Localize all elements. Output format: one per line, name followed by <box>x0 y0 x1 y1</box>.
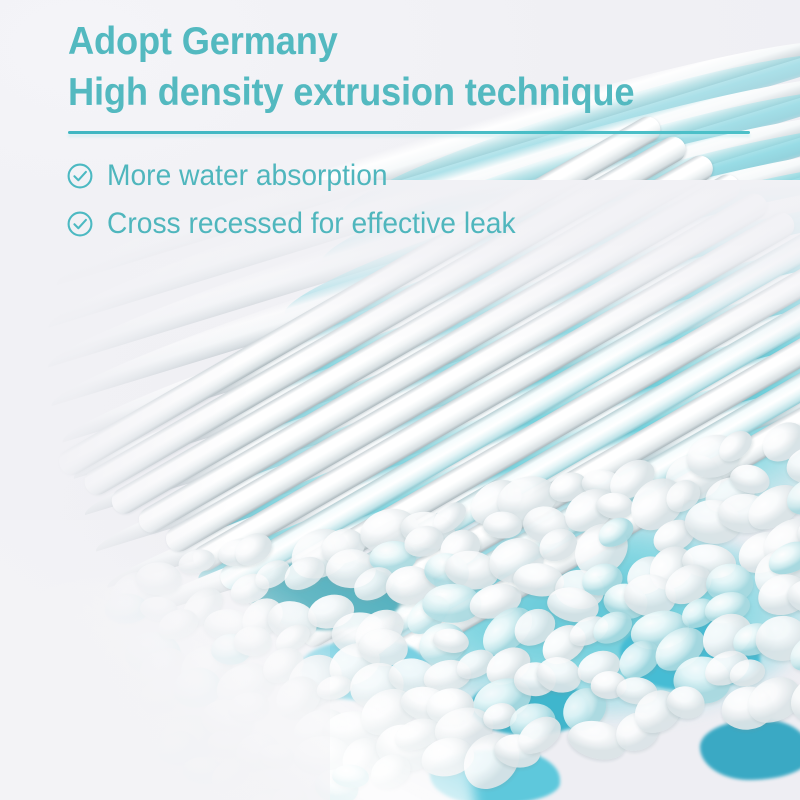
bead <box>176 546 217 577</box>
check-circle-icon <box>66 162 94 190</box>
headline-line-1: Adopt Germany <box>68 16 719 67</box>
product-macro-image <box>0 0 800 800</box>
check-circle-icon <box>66 210 94 238</box>
product-feature-banner: Adopt Germany High density extrusion tec… <box>0 0 800 800</box>
feature-item-water-absorption: More water absorption <box>66 152 542 200</box>
bead <box>234 626 273 656</box>
headline-divider <box>68 131 750 134</box>
feature-item-cross-recessed: Cross recessed for effective leak <box>66 200 542 248</box>
feature-list: More water absorption Cross recessed for… <box>66 152 542 248</box>
feature-item-label: Cross recessed for effective leak <box>107 207 516 241</box>
bead <box>270 785 308 800</box>
feature-item-label: More water absorption <box>107 159 388 193</box>
divider-glow <box>68 134 750 137</box>
headline-line-2: High density extrusion technique <box>68 67 719 118</box>
bead <box>258 743 295 768</box>
headline-block: Adopt Germany High density extrusion tec… <box>68 16 768 118</box>
bead <box>135 561 183 596</box>
